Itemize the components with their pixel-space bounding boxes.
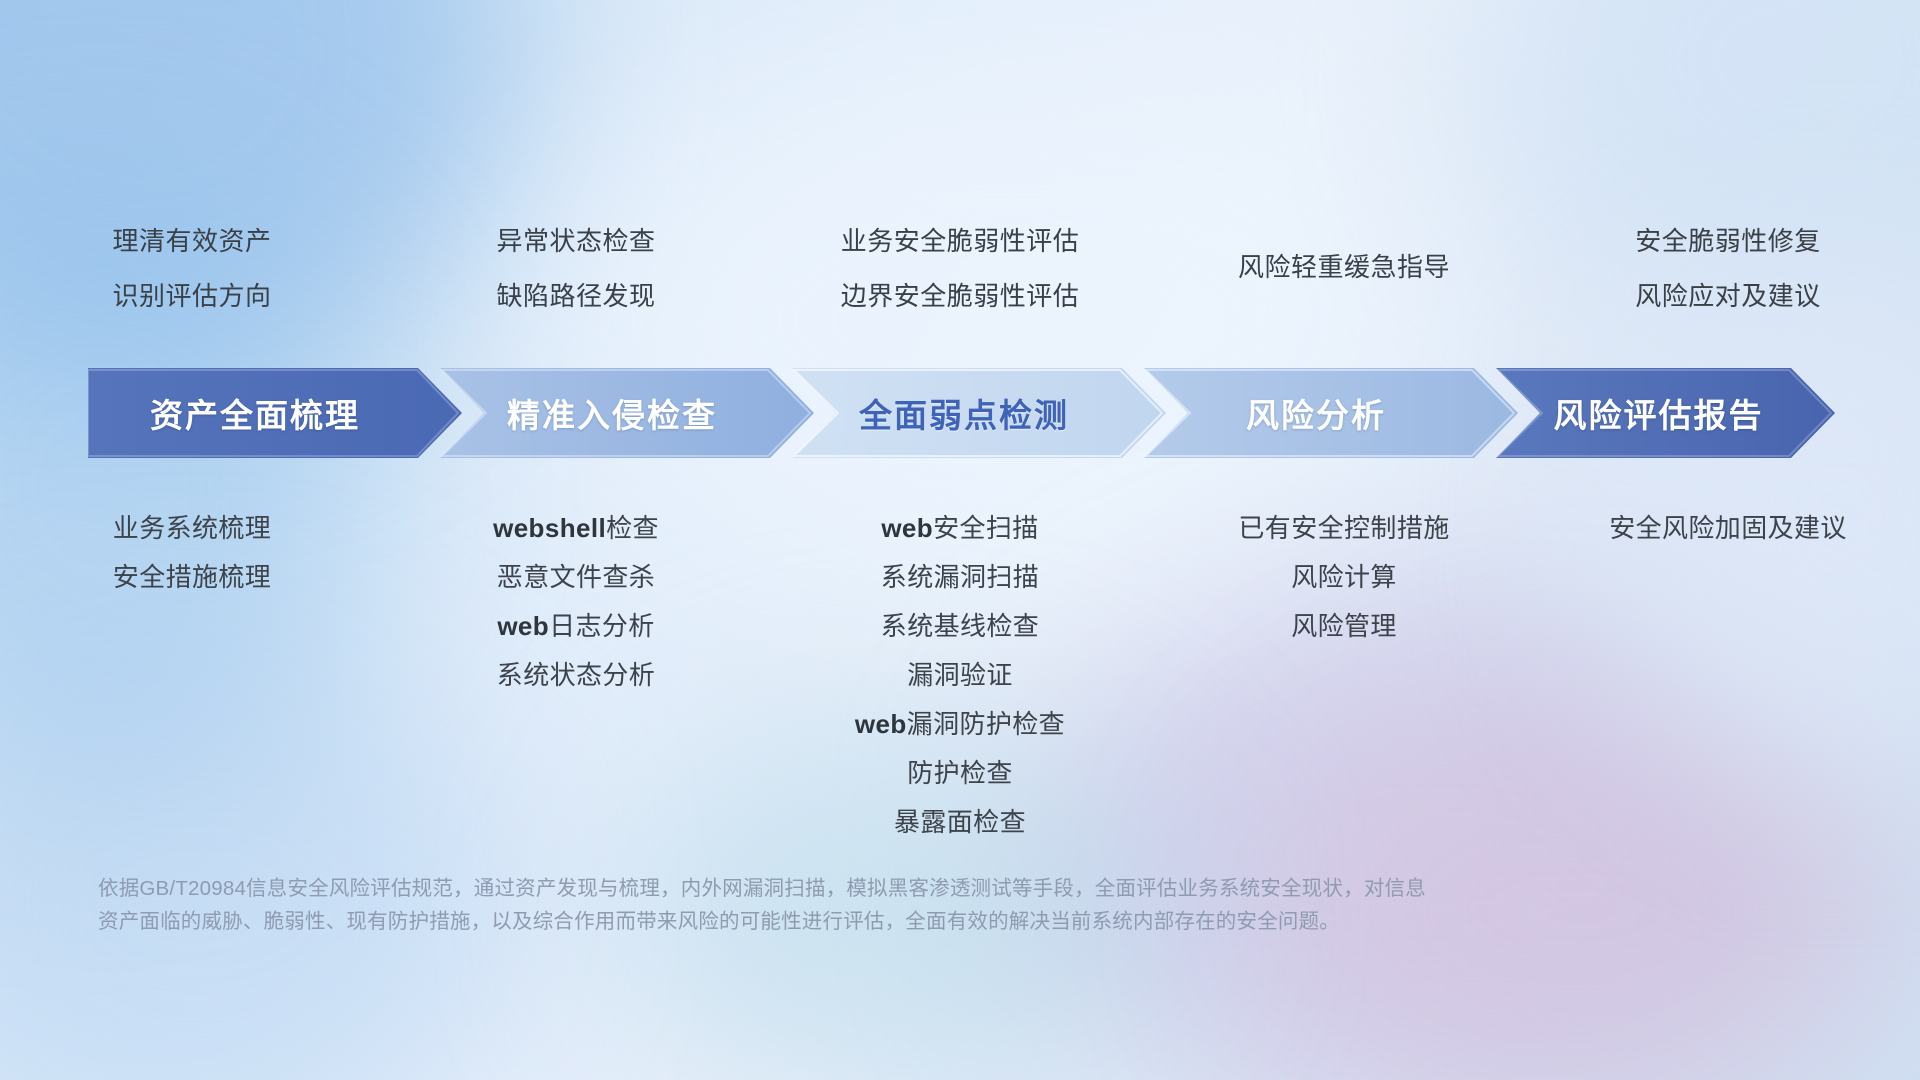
stage-label: 风险分析: [1246, 389, 1386, 437]
detail-item: web漏洞防护检查: [855, 711, 1065, 737]
bottom-col-weakness-detection: web安全扫描 系统漏洞扫描 系统基线检查 漏洞验证 web漏洞防护检查 防护检…: [768, 515, 1152, 858]
bottom-details-row: 业务系统梳理 安全措施梳理 webshell检查 恶意文件查杀 web日志分析 …: [0, 515, 1920, 858]
detail-item-cn: 漏洞防护检查: [907, 709, 1065, 739]
top-col-asset-inventory: 理清有效资产 识别评估方向: [0, 228, 384, 338]
detail-item-cn: 日志分析: [549, 611, 655, 641]
top-item: 风险应对及建议: [1635, 283, 1821, 309]
detail-item: 风险计算: [1291, 564, 1397, 590]
top-item: 业务安全脆弱性评估: [841, 228, 1080, 254]
stage-arrow-risk-analysis[interactable]: 风险分析: [1144, 368, 1518, 458]
footer-line-2: 资产面临的威胁、脆弱性、现有防护措施，以及综合作用而带来风险的可能性进行评估，全…: [98, 905, 1800, 938]
top-col-risk-analysis: 风险轻重缓急指导: [1152, 228, 1536, 338]
stage-label: 全面弱点检测: [859, 389, 1069, 437]
detail-item: 安全措施梳理: [113, 564, 271, 590]
bottom-col-assessment-report: 安全风险加固及建议: [1536, 515, 1920, 858]
detail-item: 系统漏洞扫描: [881, 564, 1039, 590]
bottom-col-intrusion-check: webshell检查 恶意文件查杀 web日志分析 系统状态分析: [384, 515, 768, 858]
detail-item-en: web: [497, 611, 549, 641]
top-item: 理清有效资产: [112, 228, 271, 254]
bottom-col-risk-analysis: 已有安全控制措施 风险计算 风险管理: [1152, 515, 1536, 858]
detail-item: 已有安全控制措施: [1238, 515, 1449, 541]
detail-item: web日志分析: [497, 613, 654, 639]
detail-item-en: web: [855, 709, 907, 739]
process-arrow-banner: 资产全面梳理 精准入侵检查: [88, 368, 1835, 458]
top-item: 安全脆弱性修复: [1635, 228, 1821, 254]
detail-item: 业务系统梳理: [113, 515, 271, 541]
detail-item: 安全风险加固及建议: [1609, 515, 1847, 541]
detail-item: 暴露面检查: [894, 809, 1026, 835]
detail-item: web安全扫描: [881, 515, 1038, 541]
top-item: 识别评估方向: [112, 283, 271, 309]
detail-item-en: web: [881, 513, 933, 543]
top-col-weakness-detection: 业务安全脆弱性评估 边界安全脆弱性评估: [768, 228, 1152, 338]
bottom-col-asset-inventory: 业务系统梳理 安全措施梳理: [0, 515, 384, 858]
top-descriptions-row: 理清有效资产 识别评估方向 异常状态检查 缺陷路径发现 业务安全脆弱性评估 边界…: [0, 228, 1920, 338]
stage-arrow-weakness-detection[interactable]: 全面弱点检测: [792, 368, 1166, 458]
detail-item: 漏洞验证: [907, 662, 1013, 688]
top-col-intrusion-check: 异常状态检查 缺陷路径发现: [384, 228, 768, 338]
stage-arrow-intrusion-check[interactable]: 精准入侵检查: [440, 368, 814, 458]
footer-line-1: 依据GB/T20984信息安全风险评估规范，通过资产发现与梳理，内外网漏洞扫描，…: [98, 872, 1800, 905]
stage-label: 精准入侵检查: [507, 389, 717, 437]
detail-item: 系统基线检查: [881, 613, 1039, 639]
top-item: 异常状态检查: [496, 228, 655, 254]
top-item: 风险轻重缓急指导: [1238, 254, 1450, 280]
top-item: 边界安全脆弱性评估: [841, 283, 1080, 309]
detail-item: 风险管理: [1291, 613, 1397, 639]
detail-item-cn: 检查: [606, 513, 659, 543]
detail-item: 防护检查: [907, 760, 1013, 786]
diagram-frame: 理清有效资产 识别评估方向 异常状态检查 缺陷路径发现 业务安全脆弱性评估 边界…: [0, 0, 1920, 1080]
stage-label: 资产全面梳理: [150, 389, 360, 437]
detail-item-cn: 安全扫描: [933, 513, 1039, 543]
stage-arrow-asset-inventory[interactable]: 资产全面梳理: [88, 368, 462, 458]
detail-item: webshell检查: [493, 515, 659, 541]
stage-label: 风险评估报告: [1554, 389, 1764, 437]
top-col-assessment-report: 安全脆弱性修复 风险应对及建议: [1536, 228, 1920, 338]
footer-description: 依据GB/T20984信息安全风险评估规范，通过资产发现与梳理，内外网漏洞扫描，…: [98, 872, 1800, 938]
stage-arrow-assessment-report[interactable]: 风险评估报告: [1496, 368, 1835, 458]
top-item: 缺陷路径发现: [496, 283, 655, 309]
detail-item: 系统状态分析: [497, 662, 655, 688]
detail-item: 恶意文件查杀: [497, 564, 655, 590]
detail-item-en: webshell: [493, 513, 606, 543]
